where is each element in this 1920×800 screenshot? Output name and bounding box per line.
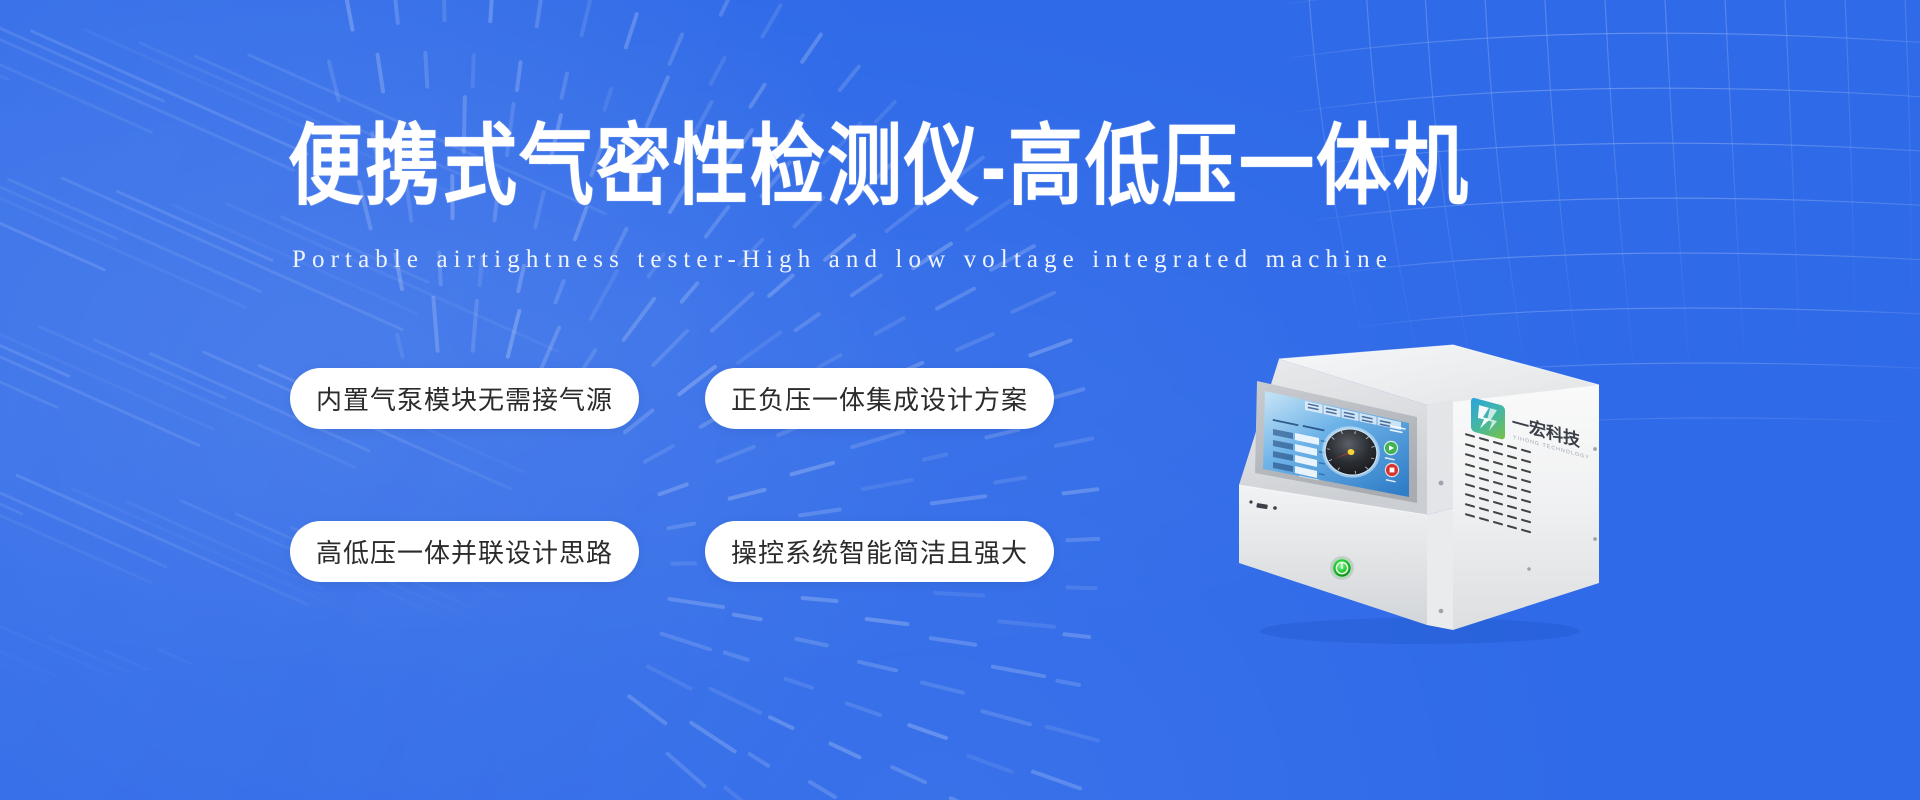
feature-pill-builtin-pump[interactable]: 内置气泵模块无需接气源 [290,368,639,429]
feature-row-top: 内置气泵模块无需接气源 正负压一体集成设计方案 [290,368,1110,429]
feature-row-bottom: 高低压一体并联设计思路 操控系统智能简洁且强大 [290,521,1110,582]
feature-pill-smart-control[interactable]: 操控系统智能简洁且强大 [705,521,1054,582]
feature-list: 内置气泵模块无需接气源 正负压一体集成设计方案 高低压一体并联设计思路 操控系统… [290,368,1110,582]
page-title: 便携式气密性检测仪-高低压一体机 [288,122,1628,211]
feature-pill-parallel-design[interactable]: 高低压一体并联设计思路 [290,521,639,582]
product-banner: 便携式气密性检测仪-高低压一体机 Portable airtightness t… [0,0,1920,800]
indicator-led-2 [1273,506,1277,510]
device-console-edge [1427,399,1453,515]
banner-content: 便携式气密性检测仪-高低压一体机 Portable airtightness t… [0,0,1920,800]
power-button [1330,556,1354,580]
product-image-airtightness-tester: 一宏科技 YIHONG TECHNOLOGY [1195,325,1645,655]
feature-pill-integrated-pressure[interactable]: 正负压一体集成设计方案 [705,368,1054,429]
page-subtitle: Portable airtightness tester-High and lo… [292,246,1393,274]
indicator-led [1249,500,1252,503]
